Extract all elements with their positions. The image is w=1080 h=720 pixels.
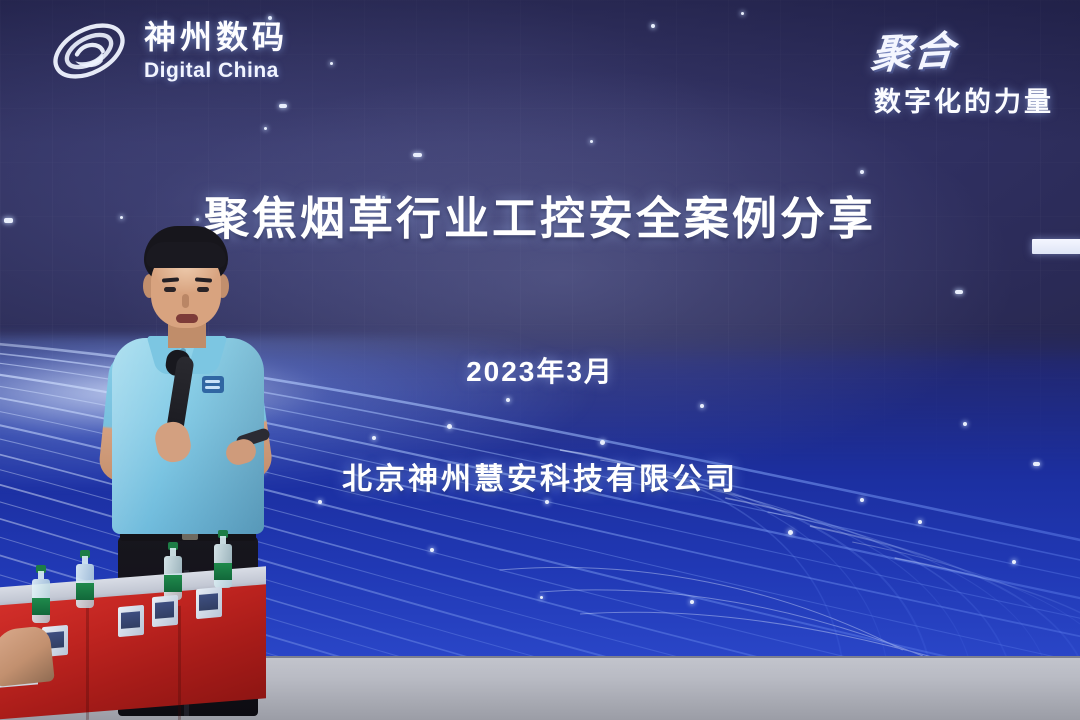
brand-name-cn: 神州数码: [144, 21, 288, 53]
name-placard: [118, 605, 144, 637]
speaker-hair-fringe: [146, 242, 226, 268]
bottle-label: [214, 563, 232, 580]
brand-name-en: Digital China: [144, 60, 288, 81]
speaker-nose: [182, 294, 189, 308]
bottle-neck: [38, 571, 44, 579]
bottle-label: [76, 583, 94, 600]
speaker-eye-left: [164, 287, 176, 292]
water-bottle: [214, 530, 232, 588]
event-slogan: 聚合 数字化的力量: [754, 18, 1054, 119]
table-cloth-fold: [178, 606, 181, 720]
bottle-neck: [82, 556, 88, 564]
bottle-label: [164, 575, 182, 592]
digital-china-swirl-icon: [46, 16, 132, 86]
speaker-shirt-logo-badge: [202, 376, 224, 393]
seated-attendee: [0, 625, 55, 687]
conference-stage-photo: 神州数码 Digital China 聚合 数字化的力量 聚焦烟草行业工控安全案…: [0, 0, 1080, 720]
bottle-label: [32, 598, 50, 615]
bottle-neck: [220, 536, 226, 544]
table-cloth-fold: [86, 606, 89, 720]
bottle-neck: [170, 548, 176, 556]
speaker-mouth: [176, 314, 198, 323]
speaker-eye-right: [197, 287, 209, 292]
slogan-brush-text: 聚合: [869, 18, 959, 80]
screen-edge-graphic-fragment: [1032, 239, 1080, 254]
brand-logo: 神州数码 Digital China: [46, 16, 288, 86]
water-bottle: [164, 542, 182, 600]
slogan-subtitle: 数字化的力量: [754, 80, 1054, 119]
name-placard: [196, 587, 222, 619]
name-placard: [152, 595, 178, 627]
water-bottle: [32, 565, 50, 623]
water-bottle: [76, 550, 94, 608]
